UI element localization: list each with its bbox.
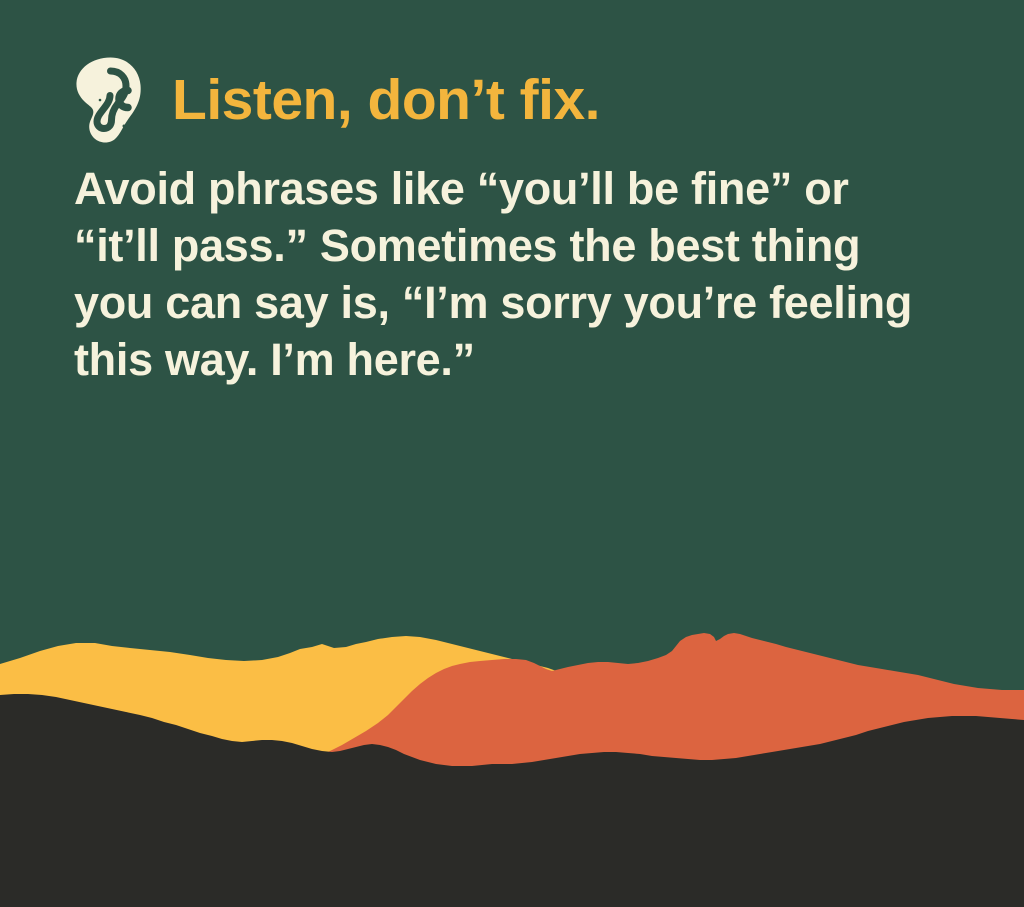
page-title: Listen, don’t fix. xyxy=(172,72,600,129)
quote-card: Listen, don’t fix. Avoid phrases like “y… xyxy=(0,0,1024,907)
mountain-ridge-illustration xyxy=(0,617,1024,907)
ear-icon xyxy=(74,56,148,144)
body-text: Avoid phrases like “you’ll be fine” or “… xyxy=(74,160,934,388)
card-header: Listen, don’t fix. xyxy=(74,56,600,144)
